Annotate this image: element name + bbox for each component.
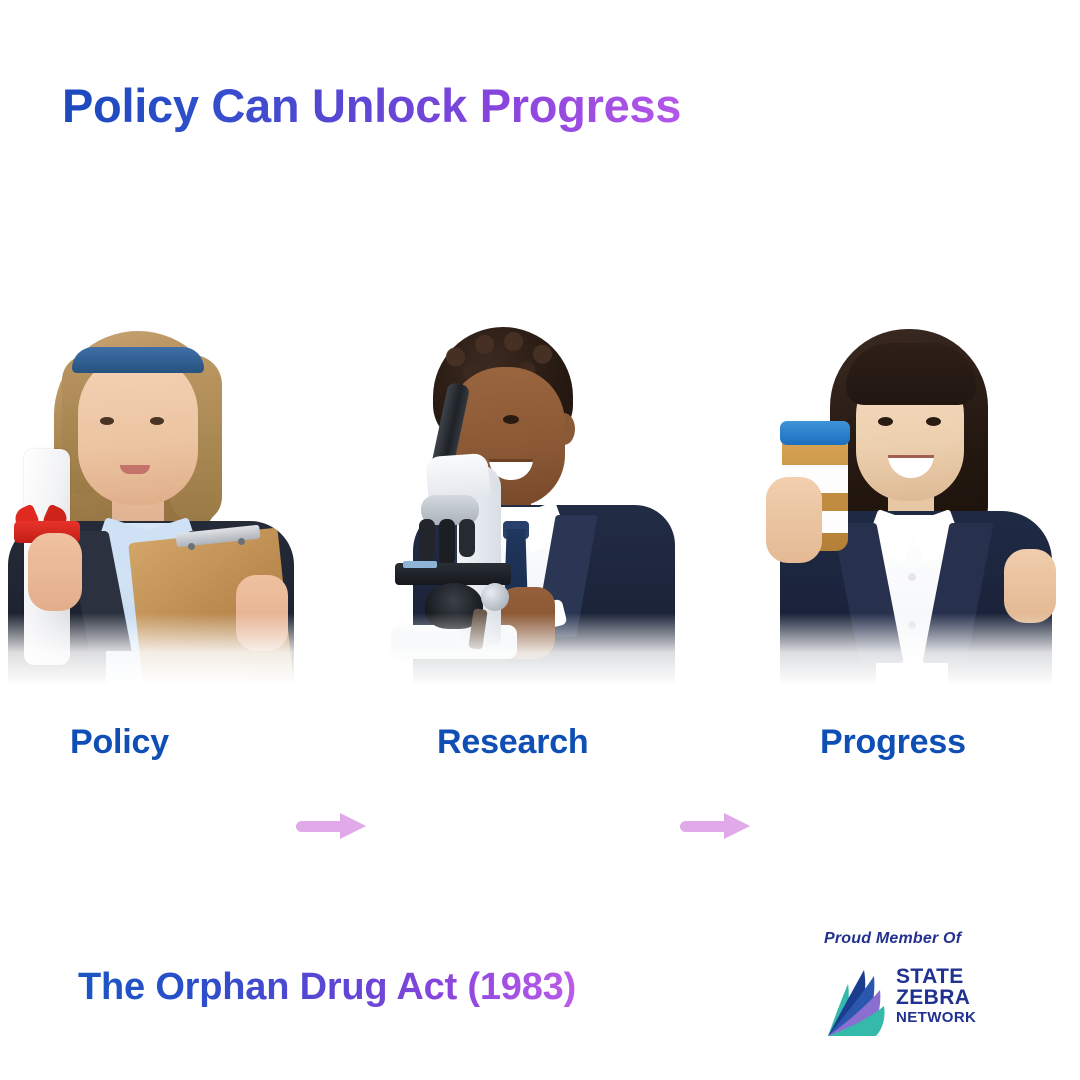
microscope-slide (403, 561, 437, 568)
clipboard-rivet-right (238, 538, 245, 545)
step-label-policy: Policy (0, 723, 300, 762)
hand-left (28, 533, 82, 611)
logo-line-zebra: ZEBRA (896, 987, 976, 1008)
arrow-right-icon-2 (680, 813, 754, 839)
bottle-cap (780, 421, 850, 445)
logo-line-state: STATE (896, 966, 976, 987)
hand-right (236, 575, 288, 651)
step-policy: Policy (0, 325, 300, 785)
arrow-shaft (296, 821, 344, 832)
proud-member-label: Proud Member Of (824, 930, 961, 948)
process-steps: Policy (0, 325, 1080, 785)
slide-canvas: Policy Can Unlock Progress (0, 0, 1080, 1080)
state-zebra-fan-icon (816, 958, 894, 1042)
microscope-objective-2 (439, 519, 455, 565)
microscope-objective-1 (419, 519, 435, 561)
eye-right (150, 417, 164, 425)
logo-wordmark: STATE ZEBRA NETWORK (896, 966, 976, 1027)
hair-bangs (846, 343, 976, 405)
step-progress: Progress (760, 325, 1060, 785)
arrow-head (340, 813, 366, 839)
logo-row: STATE ZEBRA NETWORK (816, 958, 996, 1042)
clipboard-rivet-left (188, 543, 195, 550)
logo-line-network: NETWORK (896, 1008, 976, 1027)
face-shape (78, 353, 198, 505)
eye-left (878, 417, 893, 426)
photo-policy (0, 325, 300, 685)
arrow-shaft (680, 821, 728, 832)
microscope-objective-3 (459, 519, 475, 557)
photo-progress (760, 325, 1060, 685)
step-label-research: Research (385, 723, 685, 762)
arrow-right-icon-1 (296, 813, 370, 839)
member-logo-block: Proud Member Of STATE ZEBRA NETWORK (816, 930, 996, 1042)
eye-right (926, 417, 941, 426)
shirt-button-1 (908, 573, 916, 581)
eye-left (100, 417, 114, 425)
step-label-progress: Progress (760, 723, 1060, 762)
eye-right (503, 415, 519, 424)
footer-title: The Orphan Drug Act (1983) (78, 966, 576, 1009)
hand-left (766, 477, 822, 563)
photo-research (385, 325, 685, 685)
arrow-head (724, 813, 750, 839)
shirt-button-2 (908, 621, 916, 629)
headband-shape (72, 347, 204, 373)
mouth-shape (120, 465, 150, 474)
page-title: Policy Can Unlock Progress (62, 78, 681, 133)
hand-right (1004, 549, 1056, 623)
microscope-focus-knob (481, 583, 509, 611)
step-research: Research (385, 325, 685, 785)
